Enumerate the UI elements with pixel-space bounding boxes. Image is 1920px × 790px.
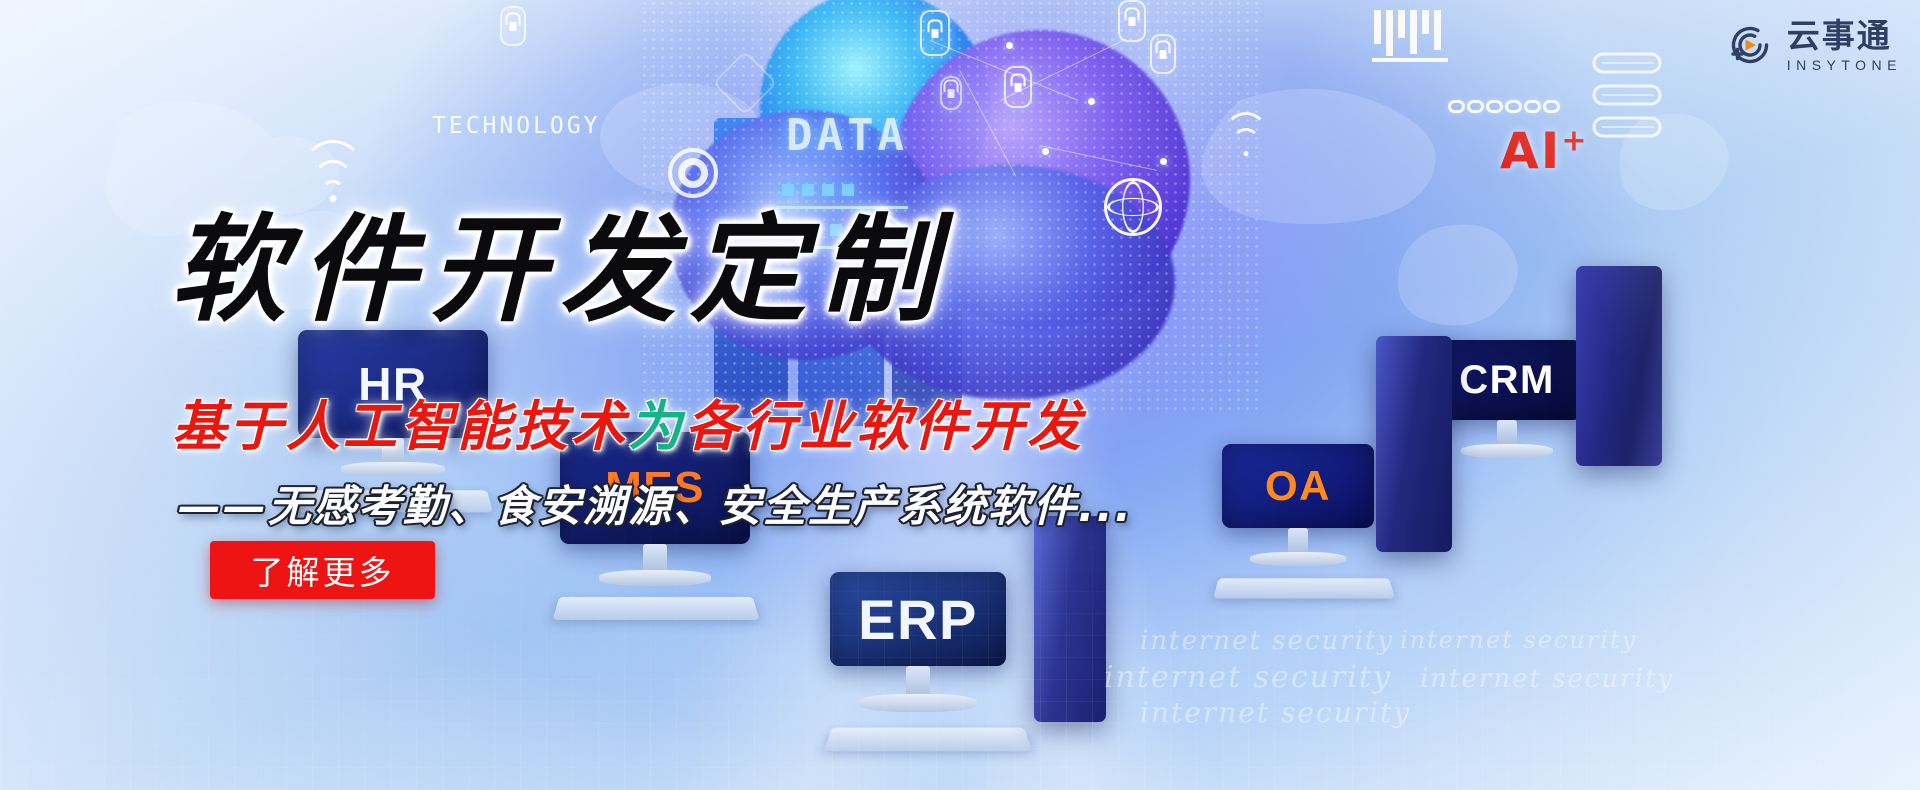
technology-label: TECHNOLOGY bbox=[432, 113, 600, 139]
subtitle-line: 基于人工智能技术为各行业软件开发 bbox=[172, 382, 1084, 461]
learn-more-label: 了解更多 bbox=[251, 546, 395, 594]
grid-floor-decoration bbox=[0, 490, 1920, 790]
brand-name-en: INSYTONE bbox=[1787, 58, 1902, 72]
lock-icon bbox=[1150, 34, 1176, 74]
network-node bbox=[1006, 42, 1013, 49]
tagline: ——无感考勤、食安溯源、安全生产系统软件... bbox=[178, 472, 1133, 534]
lock-icon bbox=[940, 76, 962, 110]
subtitle-green-part: 为 bbox=[628, 395, 685, 458]
lock-icon bbox=[1118, 0, 1146, 42]
lock-icon bbox=[500, 6, 526, 46]
network-node bbox=[1042, 148, 1049, 155]
lock-icon bbox=[920, 10, 950, 56]
monitor-stand bbox=[1497, 420, 1517, 446]
circuit-chip-decoration bbox=[1588, 48, 1674, 148]
hero-banner: AI+ TECHNOLOGY DATA bbox=[0, 0, 1920, 790]
network-node bbox=[1088, 98, 1095, 105]
wifi-icon bbox=[1222, 120, 1270, 156]
network-node bbox=[1160, 158, 1167, 165]
learn-more-button[interactable]: 了解更多 bbox=[210, 541, 435, 599]
monitor-crm: CRM bbox=[1432, 340, 1582, 420]
brand-name-cn: 云事通 bbox=[1787, 19, 1902, 52]
ai-text: AI bbox=[1500, 122, 1561, 180]
brand-logo[interactable]: 云事通 INSYTONE bbox=[1723, 18, 1902, 72]
monitor-crm-label: CRM bbox=[1459, 358, 1555, 403]
globe-icon bbox=[1104, 178, 1162, 236]
monitor-base bbox=[1461, 444, 1553, 458]
ai-superscript: + bbox=[1561, 123, 1588, 158]
insytone-mark-icon bbox=[1723, 18, 1777, 72]
lock-icon bbox=[1004, 66, 1032, 108]
ai-plus-label: AI+ bbox=[1500, 122, 1588, 180]
chain-link-icons bbox=[1448, 100, 1560, 113]
subtitle-red-part-1: 基于人工智能技术 bbox=[172, 395, 628, 458]
data-label: DATA bbox=[786, 110, 908, 161]
dot-matrix-decoration bbox=[1372, 8, 1482, 64]
subtitle-red-part-2: 各行业软件开发 bbox=[685, 395, 1084, 458]
monitor-crm-screen: CRM bbox=[1432, 340, 1582, 420]
pc-tower bbox=[1576, 266, 1662, 466]
page-title: 软件开发定制 bbox=[170, 176, 950, 344]
